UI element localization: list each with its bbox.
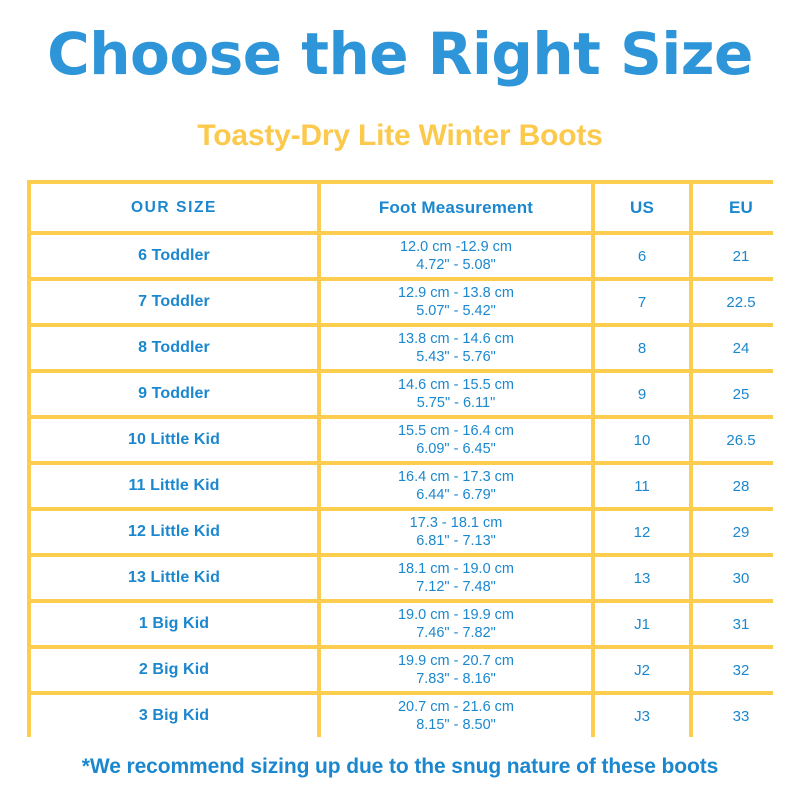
cell-eu-size: 29 [693,511,789,553]
cell-eu-size: 33 [693,695,789,737]
measurement-cm: 13.8 cm - 14.6 cm [321,330,591,348]
table-row: 6 Toddler12.0 cm -12.9 cm4.72" - 5.08"62… [31,235,789,277]
page-title: Choose the Right Size [0,22,800,86]
product-subtitle: Toasty-Dry Lite Winter Boots [0,118,800,154]
table-body: 6 Toddler12.0 cm -12.9 cm4.72" - 5.08"62… [31,235,789,737]
cell-foot-measurement: 20.7 cm - 21.6 cm8.15" - 8.50" [321,695,591,737]
measurement-inches: 8.15" - 8.50" [321,716,591,734]
measurement-cm: 20.7 cm - 21.6 cm [321,698,591,716]
cell-eu-size: 30 [693,557,789,599]
sizing-footnote: *We recommend sizing up due to the snug … [0,753,800,781]
cell-our-size: 7 Toddler [31,281,317,323]
cell-us-size: 7 [595,281,689,323]
cell-us-size: J1 [595,603,689,645]
size-chart-page: Choose the Right Size Toasty-Dry Lite Wi… [0,0,800,800]
table-row: 11 Little Kid16.4 cm - 17.3 cm6.44" - 6.… [31,465,789,507]
measurement-inches: 4.72" - 5.08" [321,256,591,274]
cell-foot-measurement: 16.4 cm - 17.3 cm6.44" - 6.79" [321,465,591,507]
cell-us-size: 12 [595,511,689,553]
cell-our-size: 2 Big Kid [31,649,317,691]
measurement-inches: 5.07" - 5.42" [321,302,591,320]
table-row: 10 Little Kid15.5 cm - 16.4 cm6.09" - 6.… [31,419,789,461]
measurement-inches: 6.09" - 6.45" [321,440,591,458]
cell-eu-size: 22.5 [693,281,789,323]
cell-foot-measurement: 15.5 cm - 16.4 cm6.09" - 6.45" [321,419,591,461]
cell-foot-measurement: 13.8 cm - 14.6 cm5.43" - 5.76" [321,327,591,369]
measurement-inches: 5.43" - 5.76" [321,348,591,366]
table-row: 3 Big Kid20.7 cm - 21.6 cm8.15" - 8.50"J… [31,695,789,737]
table-header: OUR SIZE Foot Measurement US EU [31,184,789,231]
table-row: 2 Big Kid19.9 cm - 20.7 cm7.83" - 8.16"J… [31,649,789,691]
cell-us-size: 6 [595,235,689,277]
table-row: 13 Little Kid18.1 cm - 19.0 cm7.12" - 7.… [31,557,789,599]
table-header-row: OUR SIZE Foot Measurement US EU [31,184,789,231]
cell-us-size: 11 [595,465,689,507]
cell-our-size: 10 Little Kid [31,419,317,461]
measurement-cm: 14.6 cm - 15.5 cm [321,376,591,394]
cell-eu-size: 31 [693,603,789,645]
measurement-cm: 12.9 cm - 13.8 cm [321,284,591,302]
cell-eu-size: 28 [693,465,789,507]
cell-us-size: 9 [595,373,689,415]
cell-our-size: 9 Toddler [31,373,317,415]
measurement-inches: 6.44" - 6.79" [321,486,591,504]
table-row: 12 Little Kid17.3 - 18.1 cm6.81" - 7.13"… [31,511,789,553]
cell-eu-size: 32 [693,649,789,691]
cell-our-size: 8 Toddler [31,327,317,369]
measurement-inches: 7.46" - 7.82" [321,624,591,642]
cell-eu-size: 25 [693,373,789,415]
cell-us-size: 8 [595,327,689,369]
cell-us-size: J3 [595,695,689,737]
cell-our-size: 6 Toddler [31,235,317,277]
cell-foot-measurement: 12.9 cm - 13.8 cm5.07" - 5.42" [321,281,591,323]
cell-our-size: 1 Big Kid [31,603,317,645]
measurement-cm: 19.9 cm - 20.7 cm [321,652,591,670]
cell-eu-size: 21 [693,235,789,277]
cell-foot-measurement: 18.1 cm - 19.0 cm7.12" - 7.48" [321,557,591,599]
column-header-us: US [595,184,689,231]
cell-us-size: 13 [595,557,689,599]
table-row: 7 Toddler12.9 cm - 13.8 cm5.07" - 5.42"7… [31,281,789,323]
size-table-container: OUR SIZE Foot Measurement US EU 6 Toddle… [27,180,773,737]
cell-foot-measurement: 14.6 cm - 15.5 cm5.75" - 6.11" [321,373,591,415]
cell-our-size: 13 Little Kid [31,557,317,599]
cell-our-size: 12 Little Kid [31,511,317,553]
cell-foot-measurement: 12.0 cm -12.9 cm4.72" - 5.08" [321,235,591,277]
measurement-inches: 6.81" - 7.13" [321,532,591,550]
measurement-inches: 7.83" - 8.16" [321,670,591,688]
measurement-inches: 5.75" - 6.11" [321,394,591,412]
cell-eu-size: 24 [693,327,789,369]
column-header-our-size: OUR SIZE [31,184,317,231]
table-row: 1 Big Kid19.0 cm - 19.9 cm7.46" - 7.82"J… [31,603,789,645]
table-row: 9 Toddler14.6 cm - 15.5 cm5.75" - 6.11"9… [31,373,789,415]
cell-foot-measurement: 19.9 cm - 20.7 cm7.83" - 8.16" [321,649,591,691]
column-header-eu: EU [693,184,789,231]
measurement-cm: 17.3 - 18.1 cm [321,514,591,532]
measurement-cm: 16.4 cm - 17.3 cm [321,468,591,486]
measurement-cm: 12.0 cm -12.9 cm [321,238,591,256]
measurement-inches: 7.12" - 7.48" [321,578,591,596]
cell-our-size: 3 Big Kid [31,695,317,737]
measurement-cm: 15.5 cm - 16.4 cm [321,422,591,440]
measurement-cm: 19.0 cm - 19.9 cm [321,606,591,624]
table-row: 8 Toddler13.8 cm - 14.6 cm5.43" - 5.76"8… [31,327,789,369]
cell-foot-measurement: 17.3 - 18.1 cm6.81" - 7.13" [321,511,591,553]
size-table: OUR SIZE Foot Measurement US EU 6 Toddle… [27,180,793,741]
cell-us-size: 10 [595,419,689,461]
cell-foot-measurement: 19.0 cm - 19.9 cm7.46" - 7.82" [321,603,591,645]
cell-eu-size: 26.5 [693,419,789,461]
cell-us-size: J2 [595,649,689,691]
column-header-foot-measurement: Foot Measurement [321,184,591,231]
cell-our-size: 11 Little Kid [31,465,317,507]
measurement-cm: 18.1 cm - 19.0 cm [321,560,591,578]
